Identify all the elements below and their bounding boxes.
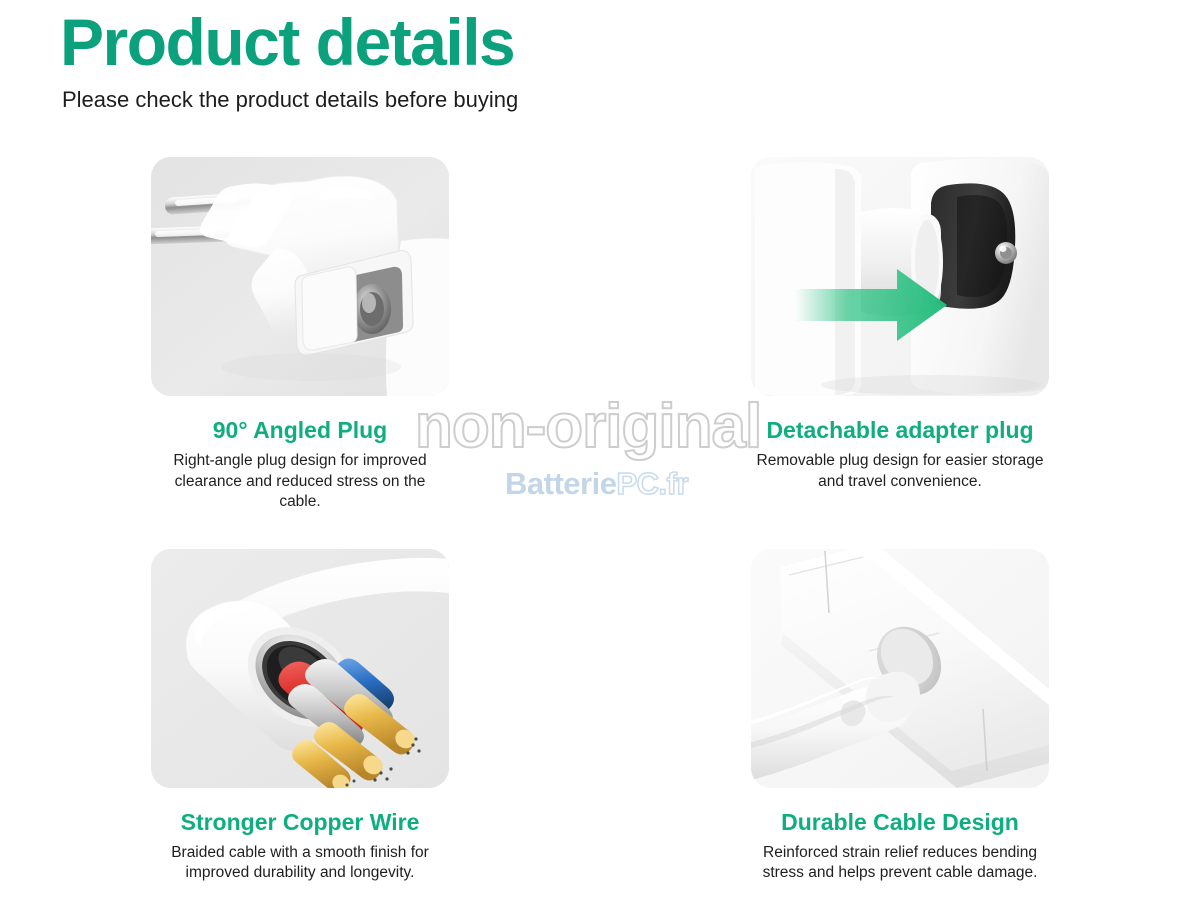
page-header: Product details Please check the product… [60, 8, 518, 113]
feature-card-copper-wire[interactable]: Stronger Copper Wire Braided cable with … [151, 549, 449, 884]
feature-title: Detachable adapter plug [755, 418, 1045, 443]
page-subtitle: Please check the product details before … [62, 87, 518, 113]
feature-caption-detachable-adapter: Detachable adapter plug Removable plug d… [751, 418, 1049, 492]
feature-description: Removable plug design for easier storage… [755, 451, 1045, 492]
feature-description: Right-angle plug design for improved cle… [155, 451, 445, 512]
feature-title: 90° Angled Plug [155, 418, 445, 443]
feature-caption-copper-wire: Stronger Copper Wire Braided cable with … [151, 810, 449, 884]
feature-card-angled-plug[interactable]: 90° Angled Plug Right-angle plug design … [151, 157, 449, 513]
feature-description: Braided cable with a smooth finish for i… [155, 843, 445, 884]
feature-caption-cable-design: Durable Cable Design Reinforced strain r… [751, 810, 1049, 884]
feature-description: Reinforced strain relief reduces bending… [755, 843, 1045, 884]
feature-title: Stronger Copper Wire [155, 810, 445, 835]
feature-image-angled-plug [151, 157, 449, 396]
feature-caption-angled-plug: 90° Angled Plug Right-angle plug design … [151, 418, 449, 513]
feature-image-cable-design [751, 549, 1049, 788]
feature-image-detachable-adapter [751, 157, 1049, 396]
feature-title: Durable Cable Design [755, 810, 1045, 835]
feature-grid: 90° Angled Plug Right-angle plug design … [0, 157, 1200, 884]
feature-image-copper-wire [151, 549, 449, 788]
feature-card-cable-design[interactable]: Durable Cable Design Reinforced strain r… [751, 549, 1049, 884]
feature-card-detachable-adapter[interactable]: Detachable adapter plug Removable plug d… [751, 157, 1049, 513]
page-title: Product details [60, 8, 518, 77]
